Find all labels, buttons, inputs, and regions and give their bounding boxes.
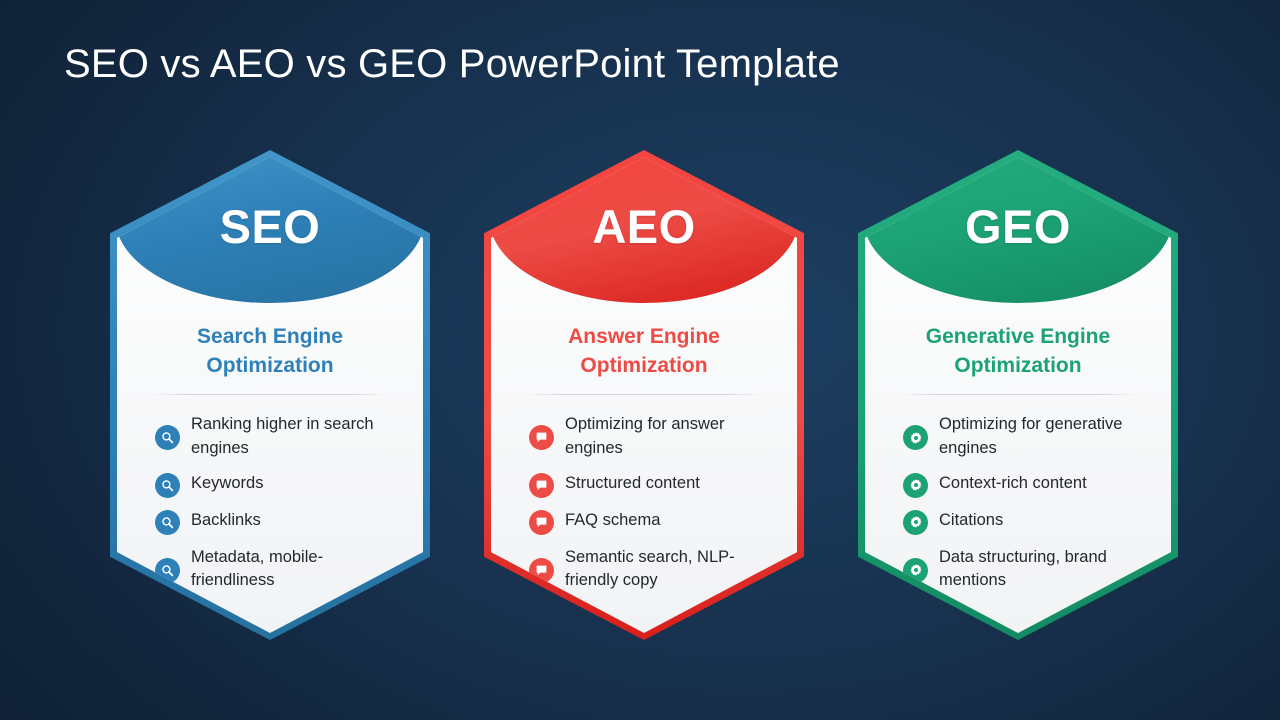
gear-icon xyxy=(903,425,928,450)
list-item[interactable]: Structured content xyxy=(529,471,775,498)
card-seo[interactable]: SEO Search Engine Optimization Ranking h… xyxy=(110,150,430,640)
search-icon xyxy=(155,510,180,535)
list-item-label: Optimizing for answer engines xyxy=(565,412,775,460)
card-inner-body: SEO Search Engine Optimization Ranking h… xyxy=(117,157,423,633)
list-item[interactable]: Keywords xyxy=(155,471,401,498)
card-aeo[interactable]: AEO Answer Engine Optimization Optimizin… xyxy=(484,150,804,640)
chat-bubble-icon xyxy=(529,425,554,450)
card-header-cap: GEO xyxy=(865,157,1171,303)
list-item[interactable]: Backlinks xyxy=(155,508,401,535)
card-content: Search Engine Optimization Ranking highe… xyxy=(117,309,423,633)
list-item[interactable]: Context-rich content xyxy=(903,471,1149,498)
list-item-label: Backlinks xyxy=(191,508,261,532)
list-item-label: Keywords xyxy=(191,471,263,495)
list-item-label: Structured content xyxy=(565,471,700,495)
card-divider xyxy=(151,394,389,395)
card-inner-body: GEO Generative Engine Optimization Optim… xyxy=(865,157,1171,633)
list-item[interactable]: Citations xyxy=(903,508,1149,535)
list-item-label: Optimizing for generative engines xyxy=(939,412,1149,460)
card-content: Answer Engine Optimization Optimizing fo… xyxy=(491,309,797,633)
card-divider xyxy=(899,394,1137,395)
card-divider xyxy=(525,394,763,395)
gear-icon xyxy=(903,473,928,498)
card-subtitle: Answer Engine Optimization xyxy=(491,309,797,380)
list-item[interactable]: Optimizing for answer engines xyxy=(529,412,775,460)
card-geo[interactable]: GEO Generative Engine Optimization Optim… xyxy=(858,150,1178,640)
card-subtitle: Generative Engine Optimization xyxy=(865,309,1171,380)
card-bullet-list: Optimizing for generative engines Contex… xyxy=(865,412,1171,593)
list-item-label: Context-rich content xyxy=(939,471,1087,495)
list-item[interactable]: FAQ schema xyxy=(529,508,775,535)
card-header-cap: AEO xyxy=(491,157,797,303)
gear-icon xyxy=(903,510,928,535)
card-bullet-list: Ranking higher in search engines Keyword… xyxy=(117,412,423,593)
search-icon xyxy=(155,473,180,498)
page-title: SEO vs AEO vs GEO PowerPoint Template xyxy=(64,42,840,87)
cards-board: SEO Search Engine Optimization Ranking h… xyxy=(0,150,1280,650)
card-subtitle: Search Engine Optimization xyxy=(117,309,423,380)
card-content: Generative Engine Optimization Optimizin… xyxy=(865,309,1171,633)
list-item-label: Citations xyxy=(939,508,1003,532)
search-icon xyxy=(155,425,180,450)
card-header-cap: SEO xyxy=(117,157,423,303)
card-inner-body: AEO Answer Engine Optimization Optimizin… xyxy=(491,157,797,633)
list-item-label: FAQ schema xyxy=(565,508,660,532)
chat-bubble-icon xyxy=(529,473,554,498)
list-item[interactable]: Ranking higher in search engines xyxy=(155,412,401,460)
list-item-label: Ranking higher in search engines xyxy=(191,412,401,460)
list-item[interactable]: Optimizing for generative engines xyxy=(903,412,1149,460)
card-bullet-list: Optimizing for answer engines Structured… xyxy=(491,412,797,593)
chat-bubble-icon xyxy=(529,510,554,535)
